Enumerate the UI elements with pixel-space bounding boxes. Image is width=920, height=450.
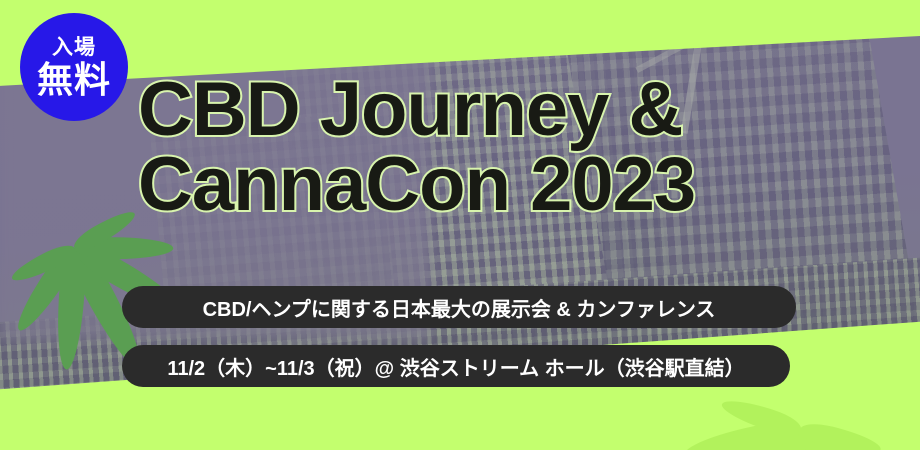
schedule-venue-pill: 11/2（木）~11/3（祝）@ 渋谷ストリーム ホール（渋谷駅直結）	[122, 345, 790, 387]
event-banner: 入場 無料 CBD Journey & CannaCon 2023 CBD/ヘン…	[0, 0, 920, 450]
badge-label-top: 入場	[52, 37, 96, 58]
free-admission-badge: 入場 無料	[20, 13, 128, 121]
tagline-pill: CBD/ヘンプに関する日本最大の展示会 & カンファレンス	[122, 286, 796, 328]
badge-label-main: 無料	[37, 62, 111, 98]
event-title: CBD Journey & CannaCon 2023	[138, 72, 858, 222]
